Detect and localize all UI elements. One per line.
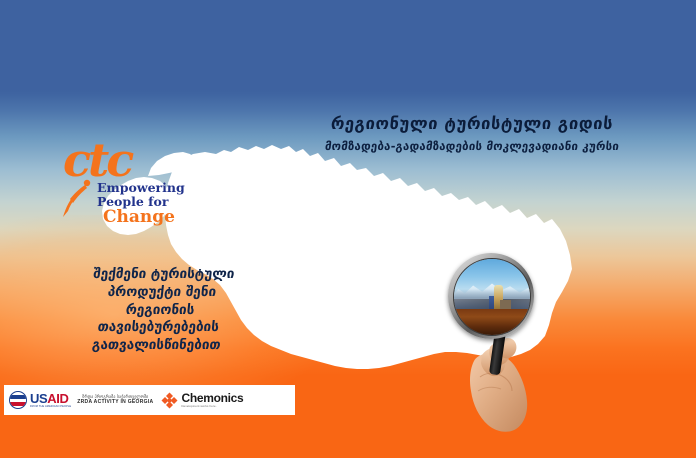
chemonics-logo: Chemonics Development works here. — [161, 392, 243, 409]
tagline-line-3: რეგიონის — [35, 302, 285, 320]
ctc-tagline: Empowering People for Change — [97, 181, 185, 227]
usaid-wordmark: USAID — [30, 392, 71, 405]
tagline-line-2: პროდუქტი შენი — [37, 284, 287, 302]
title-line-1: რეგიონული ტურისტული გიდის — [261, 112, 684, 136]
usaid-logo: USAID FROM THE AMERICAN PEOPLE — [9, 391, 71, 409]
magnifier-lens — [453, 258, 531, 336]
running-person-swoosh-icon — [57, 177, 93, 221]
ctc-tagline-line-3: Change — [103, 209, 185, 227]
zrda-logo: ზრდა პროგრამა საქართველოში ZRDA ACTIVITY… — [77, 394, 153, 405]
usaid-aid: AID — [47, 391, 68, 406]
tagline: შექმენი ტურისტული პროდუქტი შენი რეგიონის… — [31, 266, 288, 355]
lens-foreground-field — [454, 309, 530, 335]
ctc-logo: ctc Empowering People for Change — [57, 137, 187, 227]
usaid-tagline: FROM THE AMERICAN PEOPLE — [30, 406, 71, 409]
chemonics-tagline: Development works here. — [181, 405, 243, 408]
chemonics-diamond-icon — [161, 392, 178, 409]
zrda-english-text: ZRDA ACTIVITY IN GEORGIA — [77, 399, 153, 405]
chemonics-text: Chemonics Development works here. — [181, 392, 243, 408]
usaid-us: US — [30, 391, 47, 406]
usaid-seal-icon — [9, 391, 27, 409]
donor-logo-bar: USAID FROM THE AMERICAN PEOPLE ზრდა პროგ… — [4, 385, 295, 415]
title-line-2: მომზადება-გადამზადების მოკლევადიანი კურს… — [261, 138, 683, 155]
tagline-line-1: შექმენი ტურისტული — [39, 266, 289, 284]
chemonics-wordmark: Chemonics — [181, 392, 243, 404]
tagline-line-5: გათვალისწინებით — [31, 337, 281, 355]
tagline-line-4: თავისებურებების — [33, 319, 283, 337]
promo-banner: ctc Empowering People for Change რეგიონუ… — [0, 0, 696, 458]
ctc-tagline-line-1: Empowering — [97, 181, 185, 195]
magnifying-glass — [448, 253, 534, 339]
usaid-text: USAID FROM THE AMERICAN PEOPLE — [30, 392, 71, 409]
page-title: რეგიონული ტურისტული გიდის მომზადება-გადა… — [262, 112, 682, 155]
